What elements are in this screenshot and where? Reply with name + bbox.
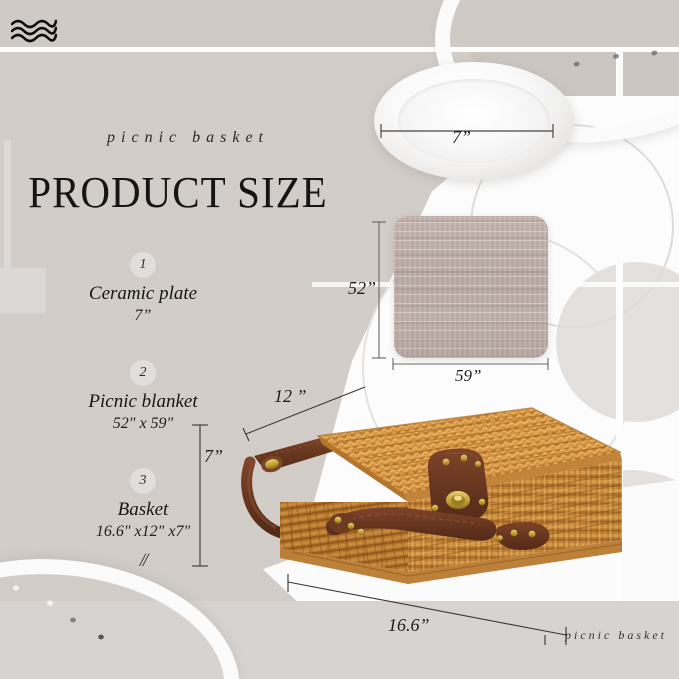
item-number-badge: 2 [130,360,156,386]
product-size-infographic: picnic basket PRODUCT SIZE 1 Ceramic pla… [0,0,679,679]
item-dimension: 16.6" x12" x7" [13,522,273,543]
dimension-label-plate-diameter: 7” [452,127,471,148]
ceramic-plate-image [374,62,574,180]
item-name: Basket [13,498,273,522]
item-dimension: 7” [13,306,273,327]
item-name: Picnic blanket [13,390,273,414]
dimension-label-blanket-width: 59” [455,366,481,386]
dimension-label-basket-depth: 12 ” [274,386,307,407]
wave-lines-icon [11,18,57,44]
picnic-blanket-swatch [394,216,548,358]
eyebrow-label: picnic basket [58,129,318,147]
plate-well [420,93,528,152]
item-number-badge: 1 [130,252,156,278]
item-name: Ceramic plate [13,282,273,306]
item-number-badge: 3 [130,468,156,494]
dimension-label-blanket-height: 52” [348,278,376,299]
list-item: 2 Picnic blanket 52" x 59" [13,360,273,435]
list-item: 3 Basket 16.6" x12" x7" [13,468,273,543]
item-dimension: 52" x 59" [13,414,273,435]
divider-mark: // [13,550,273,572]
list-item: 1 Ceramic plate 7” [13,252,273,327]
dimension-label-basket-width: 16.6” [388,615,430,636]
corner-brand-mark: picnic basket [565,628,667,643]
dimension-label-basket-height: 7” [204,446,223,467]
page-title: PRODUCT SIZE [18,166,338,218]
wicker-picnic-basket-image [232,390,622,590]
